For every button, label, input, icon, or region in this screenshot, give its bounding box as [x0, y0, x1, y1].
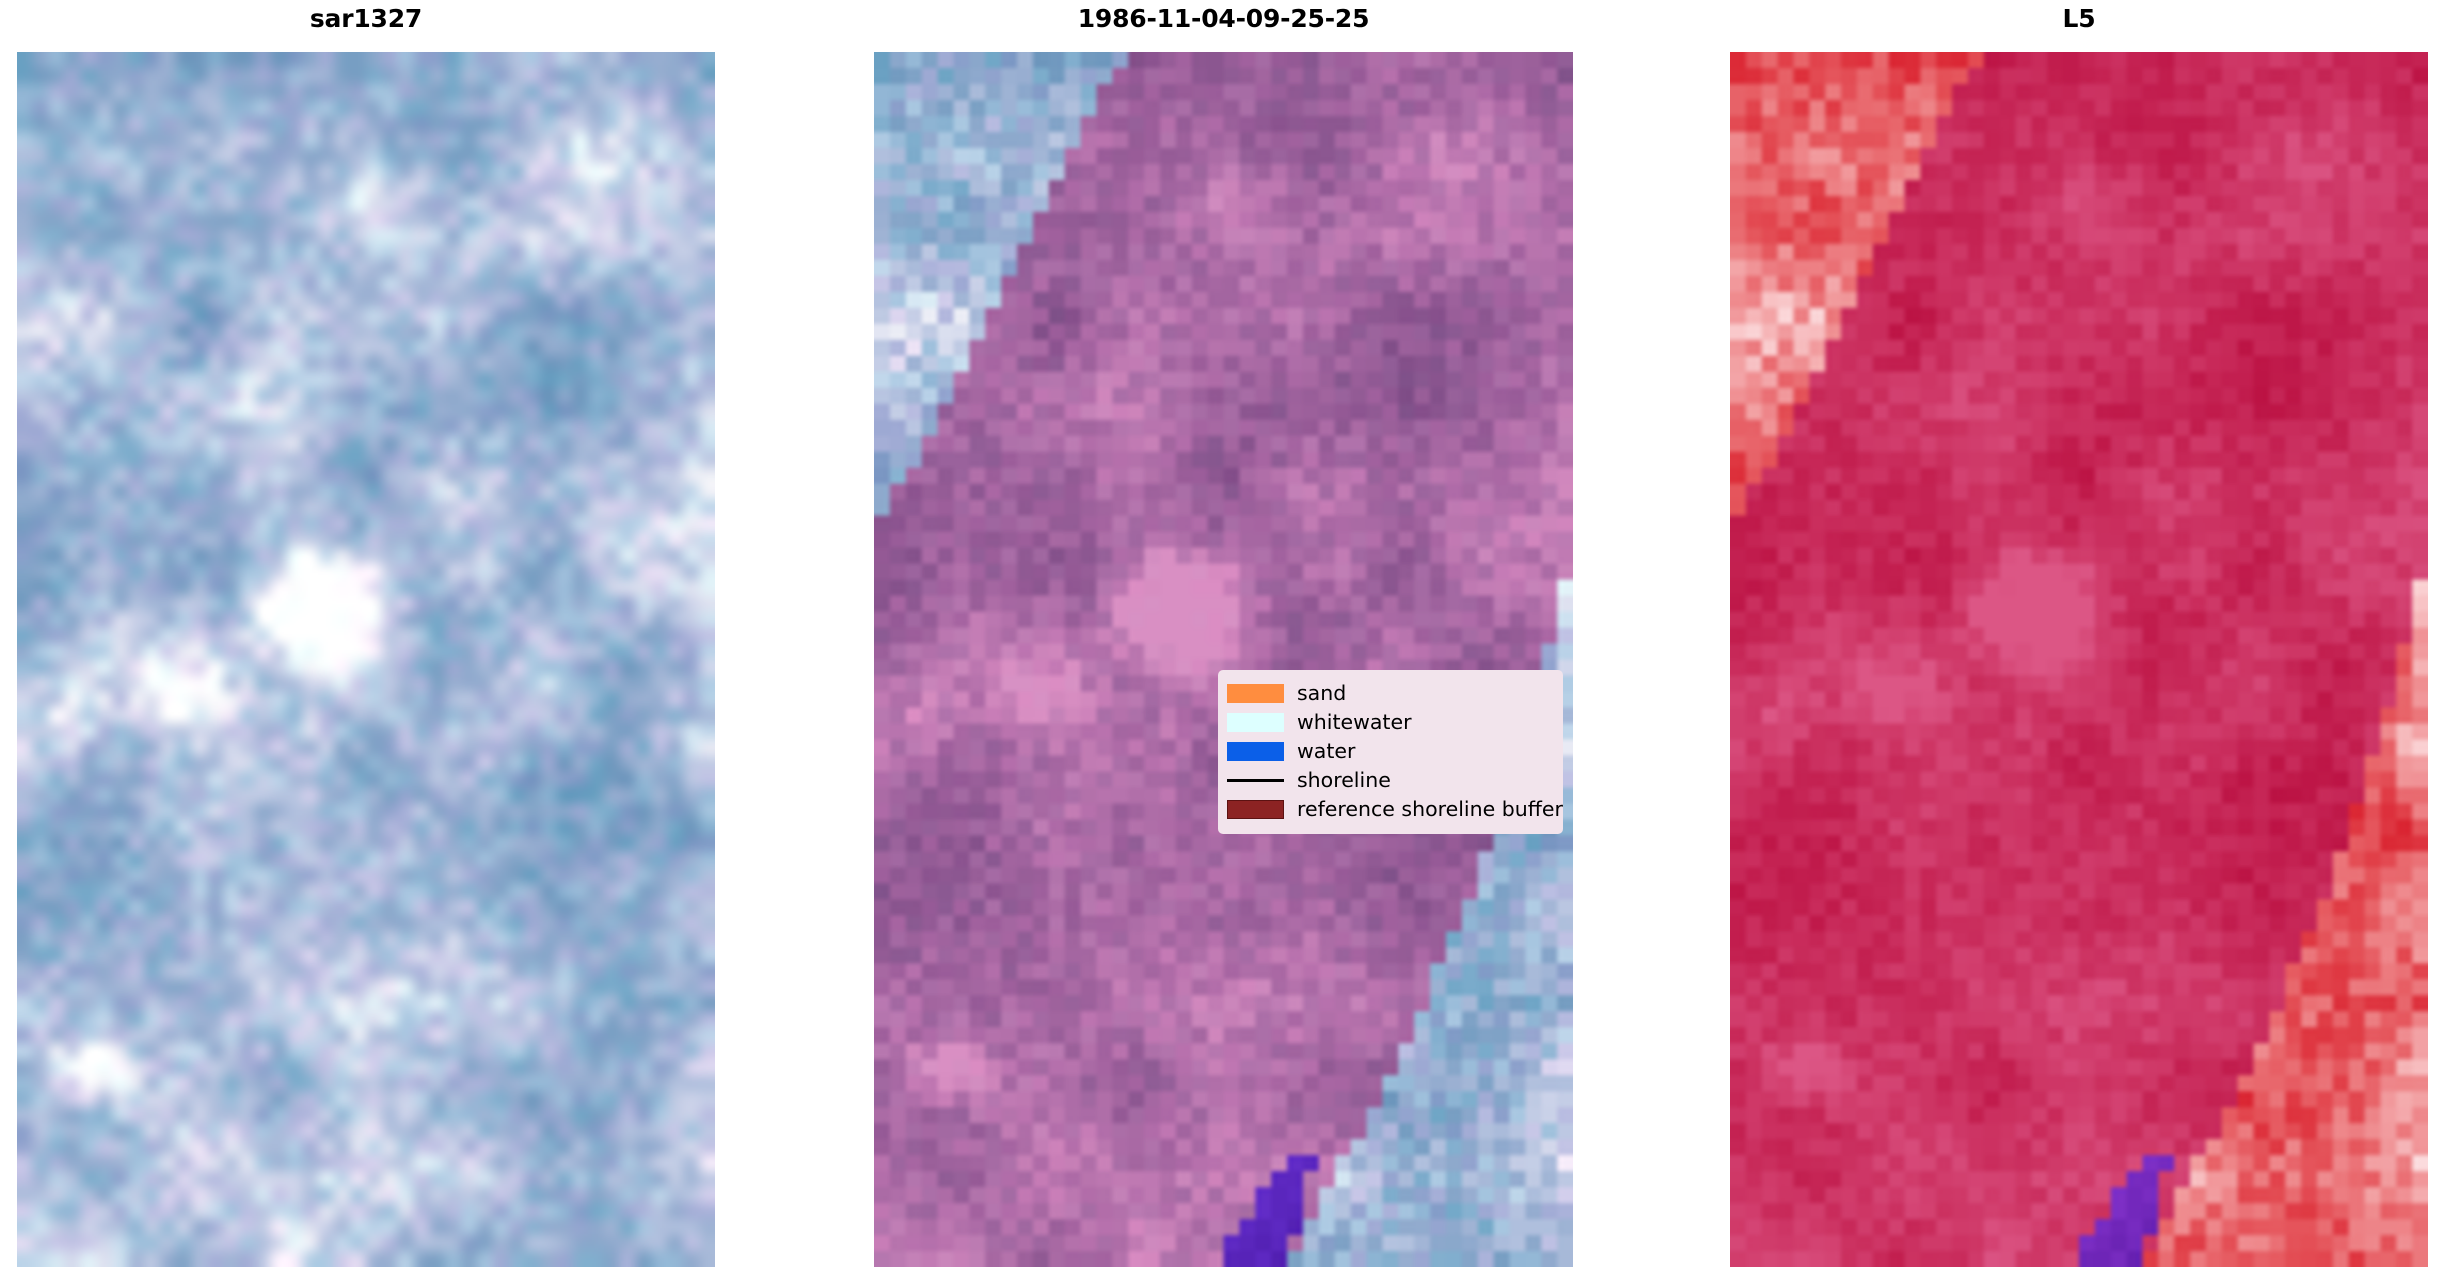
page-title-l5: L5: [1730, 4, 2428, 34]
legend-item-sand: sand: [1227, 679, 1553, 708]
sand-color-swatch: [1227, 684, 1284, 703]
water-color-swatch: [1227, 742, 1284, 761]
legend-label-reference-buffer: reference shoreline buffer: [1297, 799, 1563, 820]
classified-image: [874, 52, 1573, 1267]
whitewater-color-swatch: [1227, 713, 1284, 732]
legend-item-whitewater: whitewater: [1227, 708, 1553, 737]
reference-shoreline-buffer-color-swatch: [1227, 800, 1284, 819]
l5-image: [1730, 52, 2428, 1267]
sar-image: [17, 52, 715, 1267]
shoreline-line-swatch: [1227, 779, 1284, 782]
legend-label-shoreline: shoreline: [1297, 770, 1391, 791]
legend-label-water: water: [1297, 741, 1355, 762]
legend-item-water: water: [1227, 737, 1553, 766]
page-title-date: 1986-11-04-09-25-25: [874, 4, 1573, 34]
legend-item-reference-buffer: reference shoreline buffer: [1227, 795, 1553, 824]
page-title-sar: sar1327: [17, 4, 715, 34]
classification-legend: sand whitewater water shoreline referenc…: [1218, 670, 1563, 834]
legend-item-shoreline: shoreline: [1227, 766, 1553, 795]
legend-label-sand: sand: [1297, 683, 1346, 704]
legend-label-whitewater: whitewater: [1297, 712, 1412, 733]
